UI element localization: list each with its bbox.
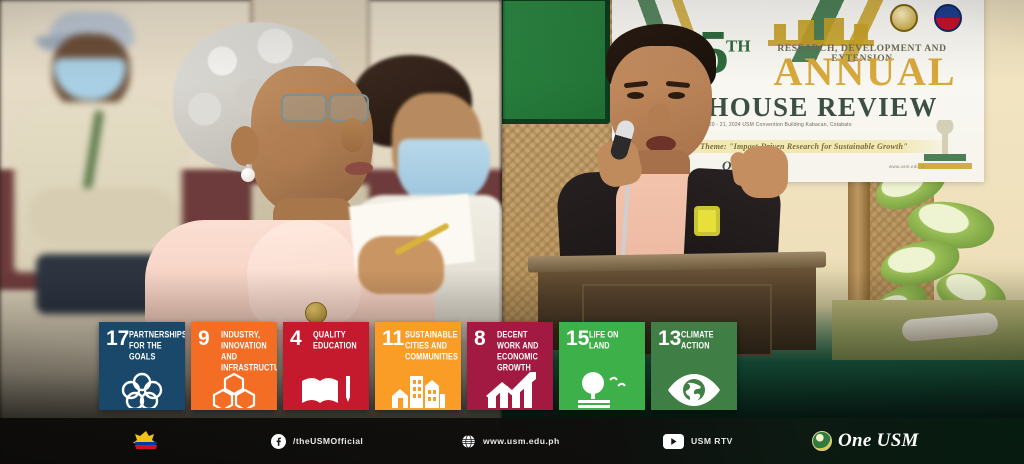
university-seal-icon	[890, 4, 918, 32]
partnership-rings-icon	[114, 372, 170, 408]
youtube-link[interactable]: USM RTV	[663, 434, 733, 449]
sdg-card-17[interactable]: 17 PARTNERSHIPS FOR THE GOALS	[99, 322, 185, 410]
sdg-number: 15	[566, 328, 589, 349]
usm-seal-icon	[812, 431, 832, 451]
background-person-with-cap	[18, 6, 168, 266]
sdg-number: 8	[474, 328, 486, 349]
tree-birds-icon	[574, 372, 630, 408]
gesturing-hand	[740, 146, 788, 198]
gold-lapel-pin	[305, 302, 327, 324]
facebook-handle: /theUSMOfficial	[293, 436, 363, 446]
sdg-label: CLIMATE ACTION	[681, 330, 733, 352]
one-usm-brand[interactable]: One USM	[812, 430, 919, 452]
facebook-icon	[271, 434, 286, 449]
sdg-card-11[interactable]: 11 SUSTAINABLE CITIES AND COMMUNITIES	[375, 322, 461, 410]
footer-bar: /theUSMOfficial www.usm.edu.ph	[0, 418, 1024, 464]
youtube-channel: USM RTV	[691, 436, 733, 446]
sdg-number: 13	[658, 328, 681, 349]
growth-chart-arrow-icon	[482, 372, 538, 408]
sdg-label: LIFE ON LAND	[589, 330, 641, 352]
sdg-card-4[interactable]: 4 QUALITY EDUCATION	[283, 322, 369, 410]
sdg-card-15[interactable]: 15 LIFE ON LAND	[559, 322, 645, 410]
sdg-number: 17	[106, 328, 129, 349]
sdg-card-strip: 17 PARTNERSHIPS FOR THE GOALS 9 INDUSTRY…	[99, 322, 737, 410]
youtube-icon	[663, 434, 684, 449]
hand-writing	[358, 236, 444, 294]
sdg-label: PARTNERSHIPS FOR THE GOALS	[129, 330, 181, 363]
sdg-label: INDUSTRY, INNOVATION AND INFRASTRUCTURE	[221, 330, 273, 373]
philippine-emblem-icon	[934, 4, 962, 32]
sdg-card-9[interactable]: 9 INDUSTRY, INNOVATION AND INFRASTRUCTUR…	[191, 322, 277, 410]
usm-logo-patch	[694, 206, 720, 236]
pearl-earring	[241, 168, 255, 182]
sdg-label: SUSTAINABLE CITIES AND COMMUNITIES	[405, 330, 457, 363]
open-book-pencil-icon	[298, 372, 354, 408]
sdg-number: 4	[290, 328, 302, 349]
city-buildings-icon	[390, 372, 446, 408]
sdg-number: 11	[382, 328, 404, 349]
one-usm-label: One USM	[838, 430, 919, 452]
sdg-number: 9	[198, 328, 210, 349]
facebook-link[interactable]: /theUSMOfficial	[271, 434, 363, 449]
cubes-icon	[206, 372, 262, 408]
website-link[interactable]: www.usm.edu.ph	[461, 434, 560, 449]
website-url: www.usm.edu.ph	[483, 436, 560, 446]
bagong-pilipinas-logo	[133, 428, 159, 454]
sdg-card-13[interactable]: 13 CLIMATE ACTION	[651, 322, 737, 410]
eye-globe-icon	[666, 372, 722, 408]
banner-stage: 45TH RESEARCH, DEVELOPMENT AND EXTENSION…	[0, 0, 1024, 464]
sdg-label: QUALITY EDUCATION	[313, 330, 365, 352]
tarpaulin-emblem	[918, 120, 972, 178]
globe-icon	[461, 434, 476, 449]
sdg-card-8[interactable]: 8 DECENT WORK AND ECONOMIC GROWTH	[467, 322, 553, 410]
sdg-label: DECENT WORK AND ECONOMIC GROWTH	[497, 330, 549, 373]
